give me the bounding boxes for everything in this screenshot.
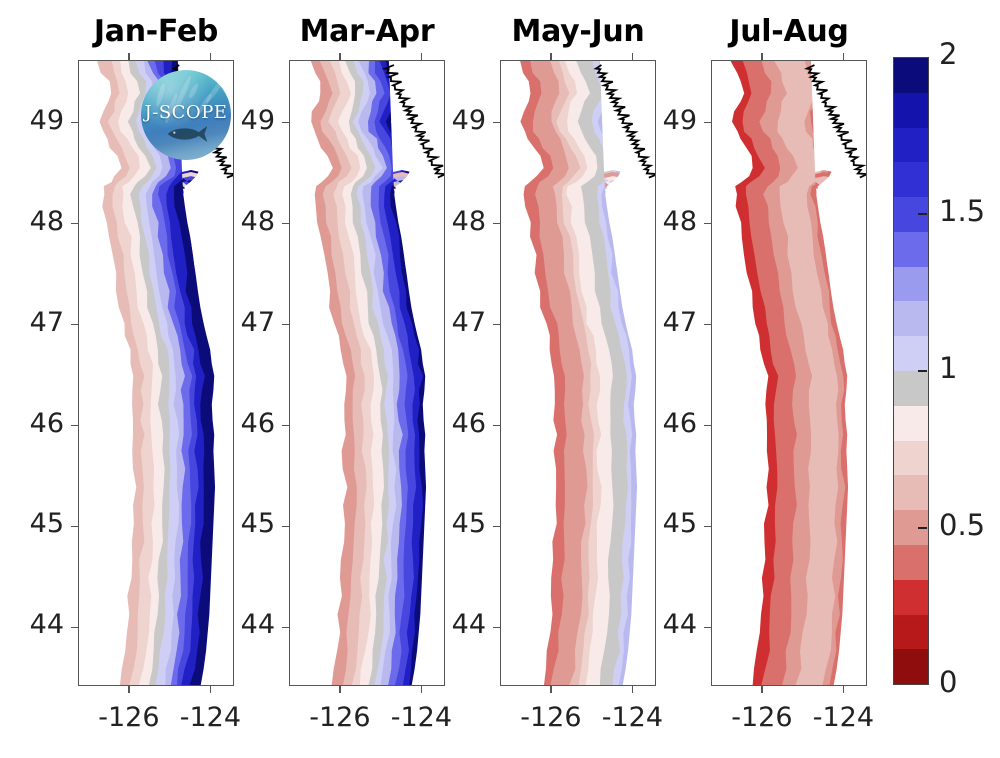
x-axis-label-mar-apr--124: -124 (361, 702, 481, 733)
logo-light-ray (188, 83, 200, 99)
colorbar-band-8 (894, 336, 928, 371)
colorbar-band-14 (894, 545, 928, 580)
x-tick-top-jul-aug--126 (761, 53, 763, 60)
map-panel-jul-aug[interactable] (711, 60, 867, 686)
y-tick-jan-feb-47 (71, 324, 78, 326)
figure-canvas: Jan-Feb494847464544-126-124Mar-Apr494847… (0, 0, 1000, 758)
y-tick-may-jun-47 (493, 324, 500, 326)
y-tick-mar-apr-45 (282, 526, 289, 528)
y-tick-jul-aug-48 (704, 223, 711, 225)
colorbar-band-2 (894, 128, 928, 163)
colorbar-band-12 (894, 475, 928, 510)
x-tick-top-jan-feb--124 (210, 53, 212, 60)
y-tick-jul-aug-45 (704, 526, 711, 528)
x-tick-top-mar-apr--124 (421, 53, 423, 60)
x-tick-mar-apr--124 (421, 686, 423, 693)
y-tick-mar-apr-47 (282, 324, 289, 326)
colorbar-band-15 (894, 580, 928, 615)
x-tick-mar-apr--126 (339, 686, 341, 693)
y-axis-label-may-jun-48: 48 (422, 206, 486, 237)
y-axis-label-jul-aug-45: 45 (633, 508, 697, 539)
colorbar-label-0.5: 0.5 (939, 508, 985, 542)
x-tick-may-jun--124 (632, 686, 634, 693)
y-axis-label-jan-feb-48: 48 (0, 206, 64, 237)
colorbar-label-1.5: 1.5 (939, 194, 985, 228)
y-tick-jan-feb-49 (71, 122, 78, 124)
map-panel-may-jun[interactable] (500, 60, 656, 686)
x-axis-label-jul-aug--124: -124 (783, 702, 903, 733)
y-tick-may-jun-46 (493, 425, 500, 427)
colorbar-label-1: 1 (939, 351, 957, 385)
y-tick-may-jun-49 (493, 122, 500, 124)
colorbar-band-16 (894, 615, 928, 650)
colorbar-band-10 (894, 406, 928, 441)
x-tick-jul-aug--124 (843, 686, 845, 693)
colorbar-tick-1.5 (918, 213, 927, 215)
y-axis-label-jan-feb-47: 47 (0, 307, 64, 338)
y-tick-jan-feb-44 (71, 627, 78, 629)
colorbar-band-6 (894, 267, 928, 302)
y-axis-label-mar-apr-44: 44 (211, 609, 275, 640)
y-tick-mar-apr-49 (282, 122, 289, 124)
x-tick-jan-feb--126 (128, 686, 130, 693)
y-axis-label-mar-apr-47: 47 (211, 307, 275, 338)
fish-icon (164, 124, 211, 144)
jscope-logo-text: J-SCOPE (141, 102, 231, 123)
y-axis-label-jul-aug-46: 46 (633, 408, 697, 439)
colorbar-band-0 (894, 58, 928, 93)
colorbar-label-2: 2 (939, 37, 957, 71)
y-tick-jul-aug-44 (704, 627, 711, 629)
x-tick-top-jul-aug--124 (843, 53, 845, 60)
y-axis-label-may-jun-45: 45 (422, 508, 486, 539)
x-tick-jul-aug--126 (761, 686, 763, 693)
y-tick-may-jun-48 (493, 223, 500, 225)
colorbar-band-1 (894, 93, 928, 128)
colorbar-band-3 (894, 162, 928, 197)
y-axis-label-may-jun-44: 44 (422, 609, 486, 640)
colorbar-band-17 (894, 649, 928, 684)
y-tick-jul-aug-49 (704, 122, 711, 124)
map-panel-mar-apr[interactable] (289, 60, 445, 686)
x-tick-may-jun--126 (550, 686, 552, 693)
y-tick-jul-aug-46 (704, 425, 711, 427)
panel-title-jul-aug: Jul-Aug (661, 14, 917, 49)
y-axis-label-jan-feb-46: 46 (0, 408, 64, 439)
y-tick-mar-apr-48 (282, 223, 289, 225)
y-axis-label-mar-apr-46: 46 (211, 408, 275, 439)
x-tick-top-may-jun--126 (550, 53, 552, 60)
x-tick-top-may-jun--124 (632, 53, 634, 60)
y-axis-label-jul-aug-49: 49 (633, 105, 697, 136)
y-axis-label-jan-feb-44: 44 (0, 609, 64, 640)
map-panel-jan-feb[interactable] (78, 60, 234, 686)
colorbar-band-11 (894, 441, 928, 476)
colorbar-band-5 (894, 232, 928, 267)
x-axis-label-jan-feb--124: -124 (150, 702, 270, 733)
y-axis-label-may-jun-47: 47 (422, 307, 486, 338)
y-tick-may-jun-44 (493, 627, 500, 629)
colorbar-tick-1 (918, 370, 927, 372)
y-axis-label-jul-aug-48: 48 (633, 206, 697, 237)
jscope-logo: J-SCOPE (141, 70, 231, 160)
y-tick-jan-feb-48 (71, 223, 78, 225)
y-axis-label-jan-feb-49: 49 (0, 105, 64, 136)
y-tick-jan-feb-45 (71, 526, 78, 528)
y-axis-label-jul-aug-47: 47 (633, 307, 697, 338)
x-tick-top-jan-feb--126 (128, 53, 130, 60)
y-axis-label-mar-apr-48: 48 (211, 206, 275, 237)
y-axis-label-may-jun-49: 49 (422, 105, 486, 136)
y-tick-mar-apr-46 (282, 425, 289, 427)
x-axis-label-may-jun--124: -124 (572, 702, 692, 733)
x-tick-jan-feb--124 (210, 686, 212, 693)
y-axis-label-jan-feb-45: 45 (0, 508, 64, 539)
y-axis-label-may-jun-46: 46 (422, 408, 486, 439)
colorbar-band-7 (894, 301, 928, 336)
x-tick-top-mar-apr--126 (339, 53, 341, 60)
colorbar-tick-0.5 (918, 527, 927, 529)
colorbar-label-0: 0 (939, 665, 957, 699)
colorbar-band-9 (894, 371, 928, 406)
y-axis-label-mar-apr-45: 45 (211, 508, 275, 539)
y-tick-jan-feb-46 (71, 425, 78, 427)
y-axis-label-jul-aug-44: 44 (633, 609, 697, 640)
y-tick-mar-apr-44 (282, 627, 289, 629)
y-tick-may-jun-45 (493, 526, 500, 528)
y-tick-jul-aug-47 (704, 324, 711, 326)
